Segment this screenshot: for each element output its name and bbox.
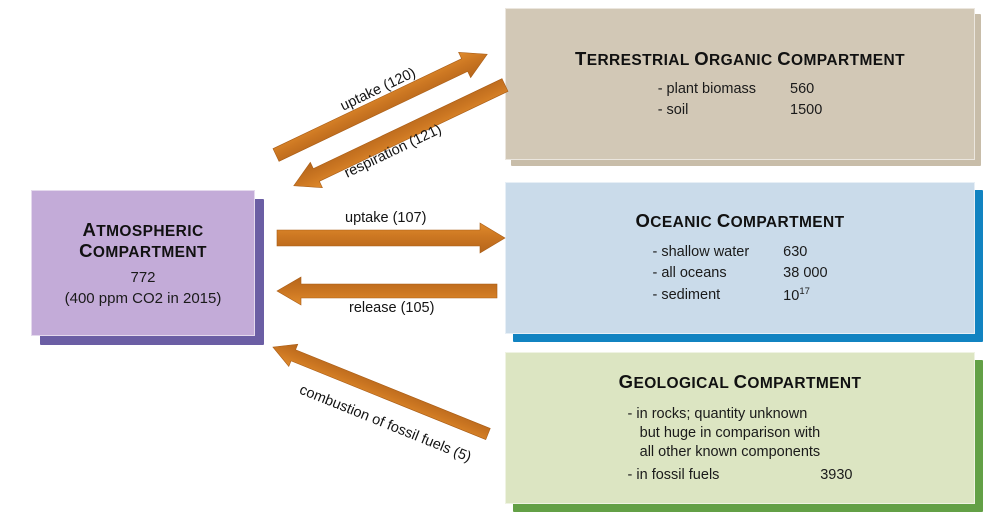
row-label: - shallow water	[652, 241, 783, 262]
oceanic-compartment-box: OCEANIC COMPARTMENT - shallow water 630 …	[505, 182, 975, 334]
table-row: - plant biomass 560	[658, 79, 823, 100]
row-value: 560	[790, 79, 822, 100]
terrestrial-organic-compartment-box: TERRESTRIAL ORGANIC COMPARTMENT - plant …	[505, 8, 975, 160]
geological-compartment-box: GEOLOGICAL COMPARTMENT - in rocks; quant…	[505, 352, 975, 504]
arrow-label-release-ocean: release (105)	[349, 300, 434, 316]
row-label: - soil	[658, 100, 790, 121]
table-row: - in fossil fuels 3930	[628, 464, 853, 485]
atmosphere-value: 772	[130, 269, 155, 286]
row-value: 630	[783, 241, 827, 262]
carbon-cycle-diagram: TERRESTRIAL ORGANIC COMPARTMENT - plant …	[0, 0, 991, 523]
row-value: 1017	[783, 283, 827, 306]
table-row: - in rocks; quantity unknown but huge in…	[628, 402, 853, 464]
atmosphere-title-line1: ATMOSPHERIC	[82, 220, 203, 241]
arrow-label-uptake-ocean: uptake (107)	[345, 210, 426, 226]
row-label: - sediment	[652, 283, 783, 306]
row-value: 1500	[790, 100, 822, 121]
row-label: - in fossil fuels	[628, 464, 821, 485]
atmosphere-title-line2: COMPARTMENT	[79, 241, 207, 262]
row-value-exponent: 17	[799, 286, 810, 297]
ocean-title: OCEANIC COMPARTMENT	[635, 210, 844, 232]
table-row: - shallow water 630	[652, 241, 827, 262]
row-value: 3930	[820, 464, 852, 485]
ocean-rows: - shallow water 630 - all oceans 38 000 …	[652, 241, 827, 306]
table-row: - all oceans 38 000	[652, 262, 827, 283]
table-row: - sediment 1017	[652, 283, 827, 306]
row-label: - plant biomass	[658, 79, 790, 100]
row-value: 38 000	[783, 262, 827, 283]
table-row: - soil 1500	[658, 100, 823, 121]
row-label: - all oceans	[652, 262, 783, 283]
geological-rows: - in rocks; quantity unknown but huge in…	[628, 402, 853, 485]
arrow-label-uptake-terrestrial: uptake (120)	[338, 65, 418, 114]
geological-note: - in rocks; quantity unknown but huge in…	[628, 406, 821, 460]
arrow-label-combustion-fossil-fuels: combustion of fossil fuels (5)	[297, 382, 473, 466]
arrow-label-respiration: respiration (121)	[342, 122, 444, 182]
terrestrial-rows: - plant biomass 560 - soil 1500	[658, 79, 823, 121]
geological-title: GEOLOGICAL COMPARTMENT	[619, 371, 862, 393]
terrestrial-title: TERRESTRIAL ORGANIC COMPARTMENT	[575, 48, 905, 70]
atmospheric-compartment-box: ATMOSPHERIC COMPARTMENT 772 (400 ppm CO2…	[31, 190, 255, 336]
atmosphere-subtext: (400 ppm CO2 in 2015)	[65, 290, 222, 307]
